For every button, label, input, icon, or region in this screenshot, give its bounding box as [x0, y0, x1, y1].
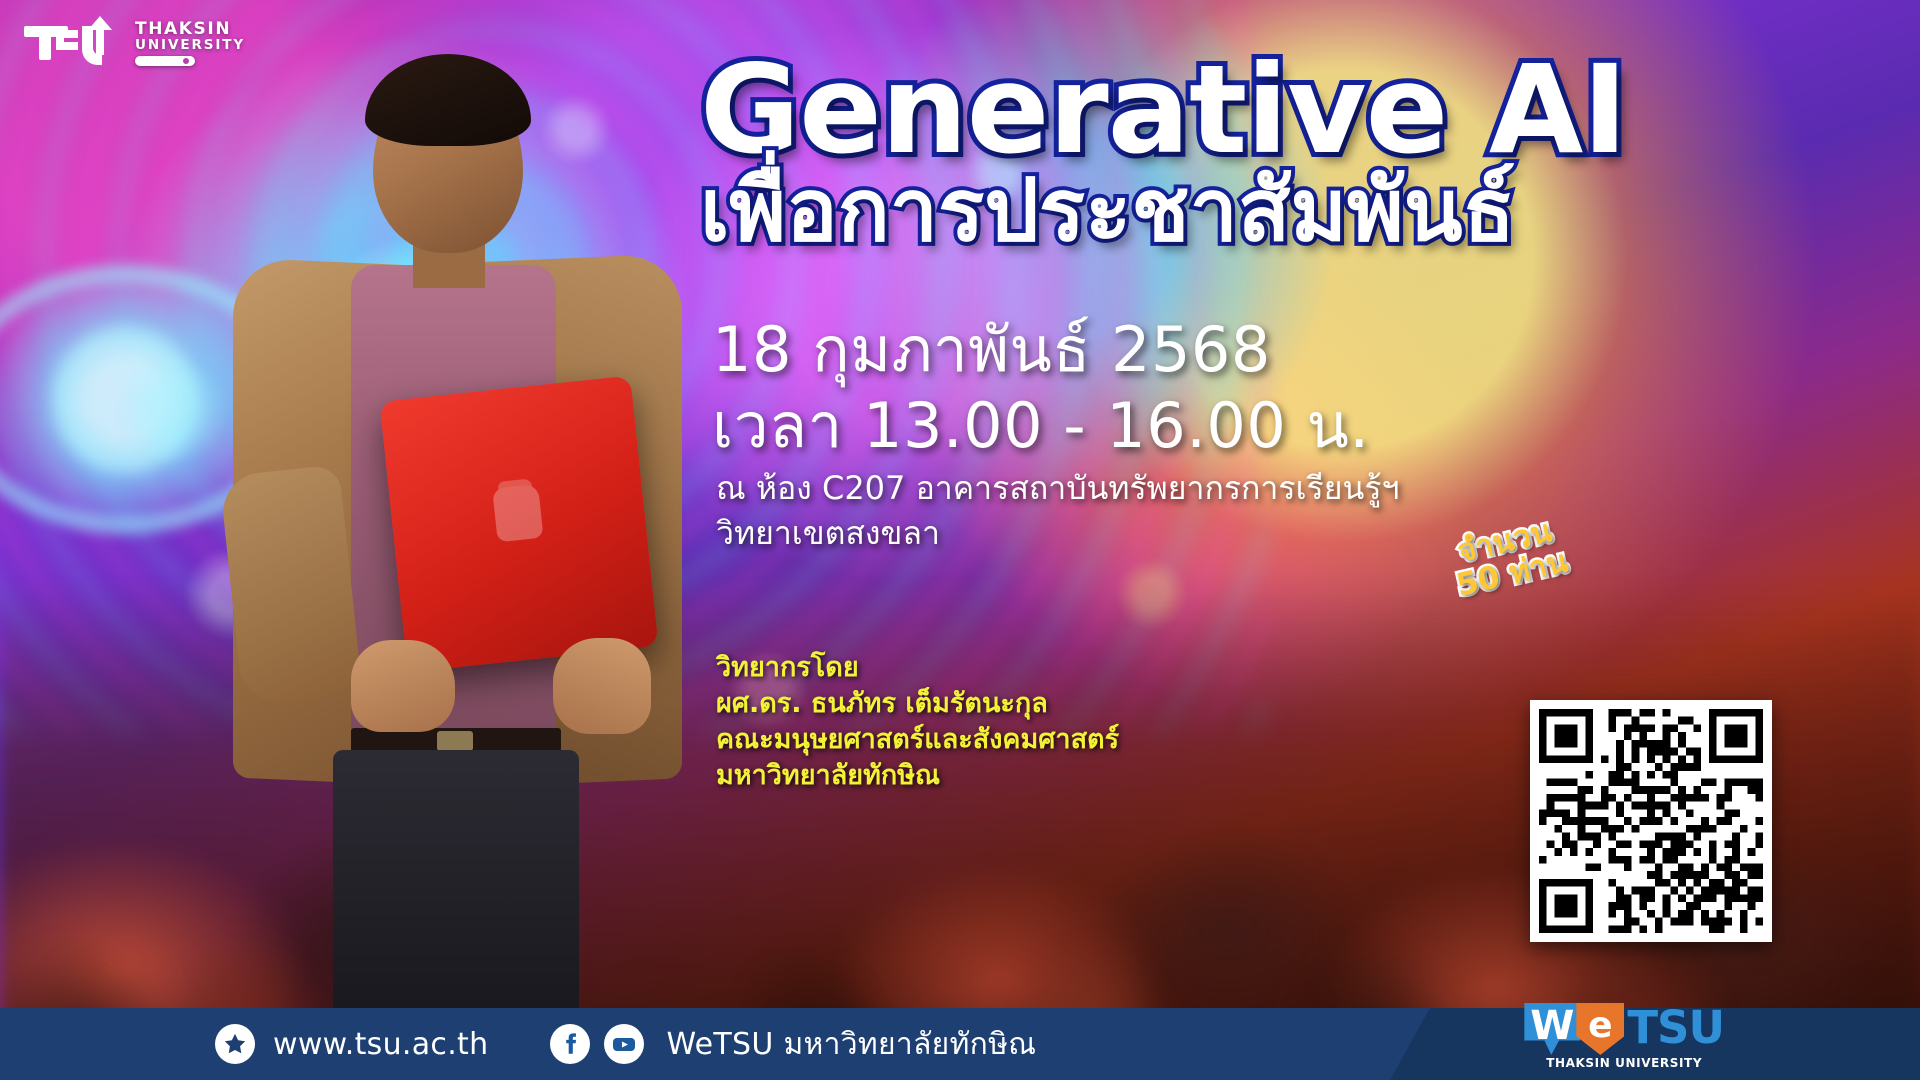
facebook-icon[interactable] — [550, 1024, 590, 1064]
wetsu-logo-row: W e TSU — [1524, 1003, 1724, 1055]
registration-qr-code[interactable] — [1530, 700, 1772, 942]
event-time: เวลา 13.00 - 16.00 น. — [712, 388, 1370, 464]
presenter-photo — [155, 40, 775, 1040]
presenter-trousers — [333, 750, 579, 1050]
venue-line-1: ณ ห้อง C207 อาคารสถาบันทรัพยากรการเรียนร… — [716, 466, 1399, 511]
event-poster: THAKSIN UNIVERSITY Generative AI เพื่อกา… — [0, 0, 1920, 1080]
red-tablet — [379, 376, 658, 673]
star-icon[interactable] — [215, 1024, 255, 1064]
footer-social-icons — [550, 1024, 644, 1064]
footer-social-label[interactable]: WeTSU มหาวิทยาลัยทักษิณ — [666, 1021, 1036, 1068]
tsu-logo-underline — [135, 56, 195, 66]
tsu-logo-text: THAKSIN UNIVERSITY — [135, 21, 245, 67]
speaker-name: ผศ.ดร. ธนภัทร เต็มรัตนะกุล — [716, 686, 1119, 722]
presenter-left-hand — [351, 640, 455, 732]
footer-bar: www.tsu.ac.th WeTSU มหาวิทยาลัยทักษิณ W … — [0, 1008, 1920, 1080]
speaker-faculty: คณะมนุษยศาสตร์และสังคมศาสตร์ — [716, 722, 1119, 758]
event-date: 18 กุมภาพันธ์ 2568 — [712, 312, 1370, 388]
presenter-arm — [219, 464, 362, 705]
tsu-university-logo: THAKSIN UNIVERSITY — [22, 14, 245, 66]
wetsu-logo: W e TSU THAKSIN UNIVERSITY — [1524, 1003, 1724, 1070]
event-venue: ณ ห้อง C207 อาคารสถาบันทรัพยากรการเรียนร… — [716, 466, 1399, 557]
tsu-monogram-icon — [22, 14, 126, 66]
tsu-logo-line1: THAKSIN — [135, 21, 245, 38]
wetsu-logo-subtitle: THAKSIN UNIVERSITY — [1546, 1056, 1702, 1070]
youtube-icon[interactable] — [604, 1024, 644, 1064]
speaker-university: มหาวิทยาลัยทักษิณ — [716, 758, 1119, 794]
speaker-label: วิทยากรโดย — [716, 650, 1119, 686]
wetsu-logo-w: W — [1524, 1003, 1580, 1055]
footer-website[interactable]: www.tsu.ac.th — [273, 1027, 488, 1062]
event-schedule: 18 กุมภาพันธ์ 2568 เวลา 13.00 - 16.00 น. — [712, 312, 1370, 463]
wetsu-logo-e: e — [1576, 1003, 1624, 1055]
headline-title-en: Generative AI — [700, 52, 1900, 169]
tsu-logo-line2: UNIVERSITY — [135, 39, 245, 53]
venue-line-2: วิทยาเขตสงขลา — [716, 511, 1399, 556]
wetsu-logo-tsu: TSU — [1627, 1003, 1724, 1053]
footer-contacts: www.tsu.ac.th WeTSU มหาวิทยาลัยทักษิณ — [0, 1021, 1036, 1068]
presenter-hair — [365, 54, 531, 146]
speaker-info: วิทยากรโดย ผศ.ดร. ธนภัทร เต็มรัตนะกุล คณ… — [716, 650, 1119, 794]
headline-title-th: เพื่อการประชาสัมพันธ์ — [700, 165, 1900, 258]
poster-headline: Generative AI เพื่อการประชาสัมพันธ์ — [700, 52, 1900, 258]
presenter-right-hand — [553, 638, 651, 734]
